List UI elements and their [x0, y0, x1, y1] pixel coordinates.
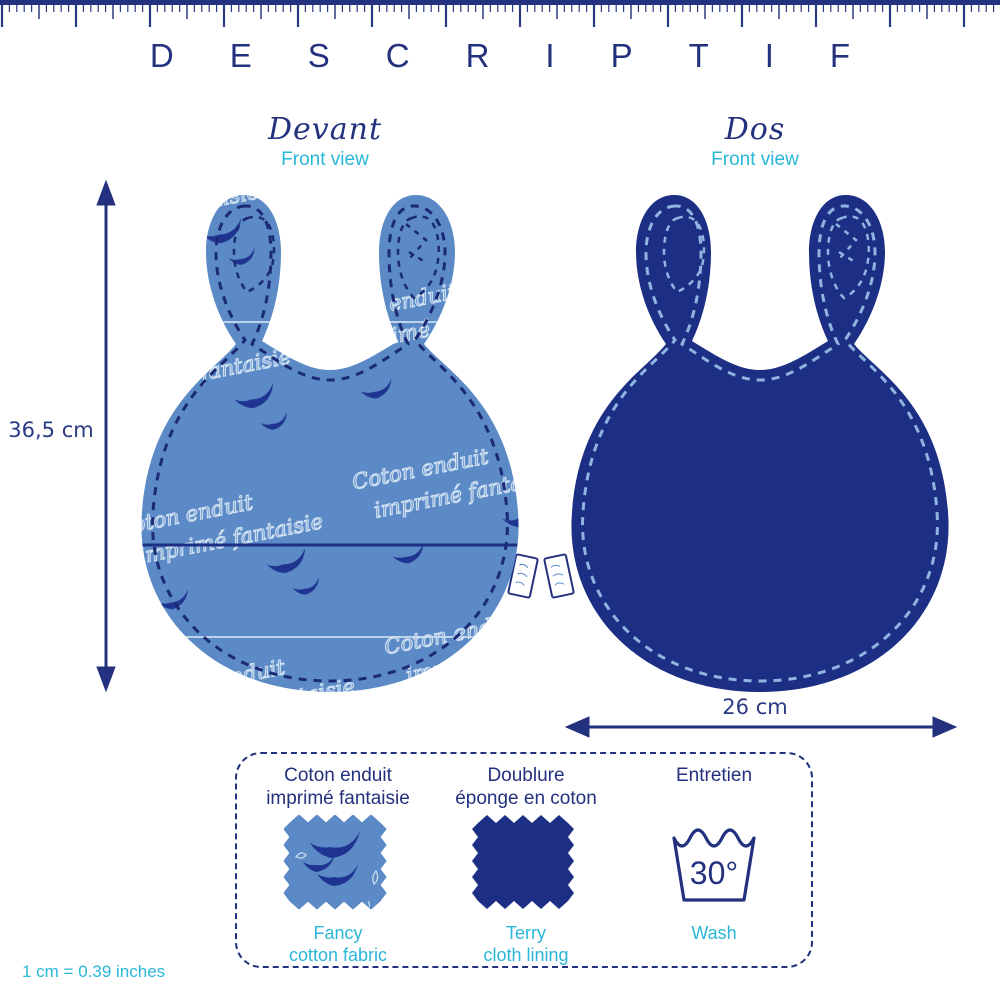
- wash-30-icon-svg: 30°: [666, 826, 762, 908]
- wash-30-icon: 30°: [621, 812, 807, 922]
- legend-subtitle-care: Wash: [621, 922, 807, 944]
- height-dimension-arrow: [97, 181, 115, 691]
- legend-title-terry: Doublure éponge en coton: [433, 754, 619, 812]
- legend-subtitle-terry: Terry cloth lining: [433, 922, 619, 966]
- fabric-swatch-dark: [433, 812, 619, 922]
- legend-panel: Coton enduit imprimé fantaisie: [235, 752, 813, 968]
- descriptif-sheet: DESCRIPTIF Devant Front view Dos Front v…: [0, 0, 1000, 1000]
- height-dimension-label: 36,5 cm: [8, 418, 94, 442]
- bib-front-body: [141, 195, 518, 692]
- legend-title-coated: Coton enduit imprimé fantaisie: [245, 754, 431, 812]
- fabric-swatch-dark-svg: [472, 815, 580, 919]
- width-dimension-label: 26 cm: [640, 695, 870, 719]
- bib-back: [544, 195, 948, 692]
- legend-item-coated-cotton: Coton enduit imprimé fantaisie: [245, 754, 431, 966]
- wash-temperature: 30°: [690, 855, 738, 891]
- legend-subtitle-coated: Fancy cotton fabric: [245, 922, 431, 966]
- fabric-swatch-light: [245, 812, 431, 922]
- care-tag-back: [544, 554, 574, 598]
- bib-front: [120, 195, 540, 692]
- bib-back-body: [571, 195, 948, 692]
- fabric-swatch-light-svg: [284, 815, 392, 919]
- width-dimension-arrow: [566, 717, 956, 737]
- legend-title-care: Entretien: [621, 754, 807, 812]
- legend-item-care: Entretien 30° Wash: [621, 754, 807, 966]
- legend-item-terry-lining: Doublure éponge en coton Terry cloth lin…: [433, 754, 619, 966]
- unit-conversion-note: 1 cm = 0.39 inches: [22, 962, 165, 982]
